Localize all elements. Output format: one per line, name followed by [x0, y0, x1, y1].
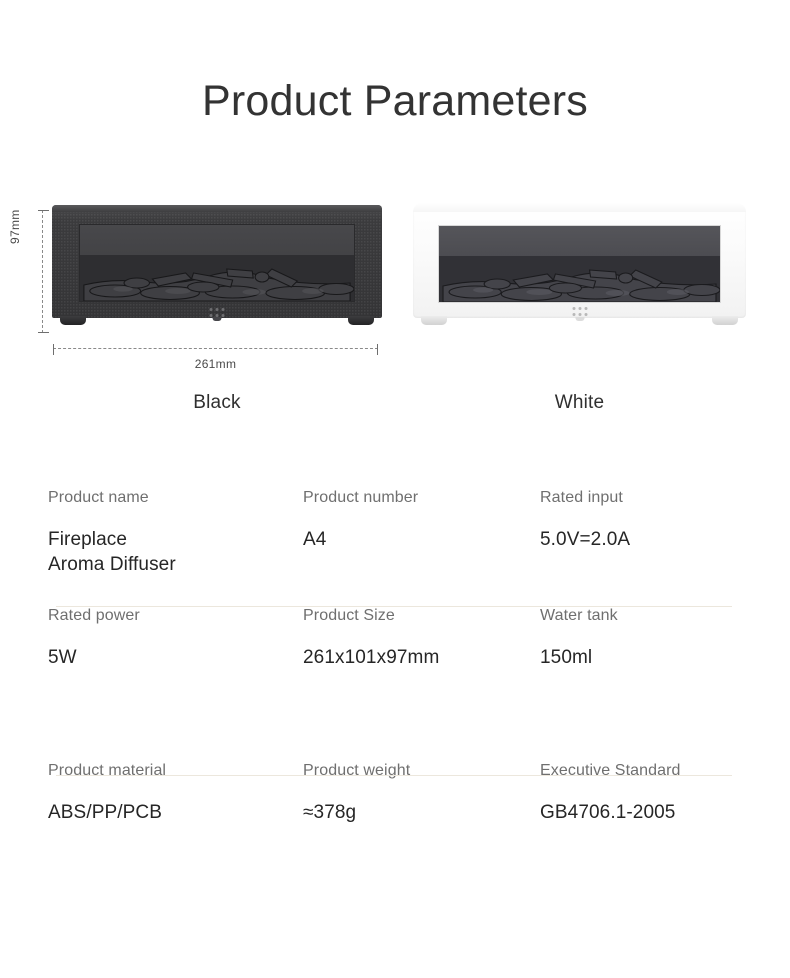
spec-label: Water tank [540, 606, 758, 625]
spec-value: Fireplace Aroma Diffuser [48, 527, 303, 577]
spec-label: Product weight [303, 761, 540, 780]
black-unit-control-tab [213, 317, 222, 321]
spec-label: Rated power [48, 606, 303, 625]
spec-cell-product-size: Product Size 261x101x97mm [303, 606, 540, 761]
white-unit-control-tab [575, 317, 584, 321]
spec-cell-product-weight: Product weight ≈378g [303, 761, 540, 881]
spec-label: Product material [48, 761, 303, 780]
spec-value: ABS/PP/PCB [48, 800, 303, 825]
spec-cell-rated-power: Rated power 5W [48, 606, 303, 761]
table-row: Rated power 5W Product Size 261x101x97mm… [0, 606, 790, 761]
table-row: Product material ABS/PP/PCB Product weig… [0, 761, 790, 881]
black-unit-control-indicators[interactable] [210, 308, 225, 317]
height-dimension-label: 97mm [8, 209, 22, 244]
product-image-black [52, 205, 382, 325]
spec-cell-product-material: Product material ABS/PP/PCB [48, 761, 303, 881]
white-unit-control-indicators[interactable] [572, 307, 587, 316]
black-unit-top-edge [52, 205, 382, 212]
spec-value: 5.0V=2.0A [540, 527, 758, 552]
black-unit-foot-left [60, 316, 86, 325]
white-unit-logs-icon [439, 256, 720, 302]
white-unit-foot-left [421, 316, 447, 325]
spec-cell-product-number: Product number A4 [303, 488, 540, 606]
product-parameters-page: Product Parameters 97mm 261mm [0, 0, 790, 978]
spec-cell-executive-standard: Executive Standard GB4706.1-2005 [540, 761, 758, 881]
spec-cell-rated-input: Rated input 5.0V=2.0A [540, 488, 758, 606]
product-image-white [413, 203, 746, 325]
width-dimension-label: 261mm [53, 357, 378, 371]
white-unit-foot-right [712, 316, 738, 325]
black-unit-shell [52, 205, 382, 318]
spec-label: Executive Standard [540, 761, 758, 780]
row-divider [56, 775, 732, 776]
spec-value: 261x101x97mm [303, 645, 540, 670]
table-row: Product name Fireplace Aroma Diffuser Pr… [0, 488, 790, 606]
white-unit-top-edge [413, 203, 746, 212]
spec-label: Rated input [540, 488, 758, 507]
color-caption-black: Black [52, 392, 382, 414]
spec-value: 5W [48, 645, 303, 670]
black-unit-logs-icon [80, 255, 354, 301]
height-dimension-line [42, 210, 43, 333]
spec-value: 150ml [540, 645, 758, 670]
spec-value: ≈378g [303, 800, 540, 825]
spec-value: GB4706.1-2005 [540, 800, 758, 825]
black-unit-viewing-window [79, 224, 355, 302]
spec-value: A4 [303, 527, 540, 552]
spec-cell-water-tank: Water tank 150ml [540, 606, 758, 761]
white-unit-shell [413, 203, 746, 318]
width-dimension-line [53, 348, 378, 349]
black-unit-foot-right [348, 316, 374, 325]
specification-table: Product name Fireplace Aroma Diffuser Pr… [0, 488, 790, 881]
color-caption-white: White [413, 392, 746, 414]
spec-cell-product-name: Product name Fireplace Aroma Diffuser [48, 488, 303, 606]
spec-label: Product number [303, 488, 540, 507]
spec-label: Product name [48, 488, 303, 507]
page-title: Product Parameters [0, 78, 790, 125]
spec-label: Product Size [303, 606, 540, 625]
white-unit-viewing-window [438, 225, 721, 303]
